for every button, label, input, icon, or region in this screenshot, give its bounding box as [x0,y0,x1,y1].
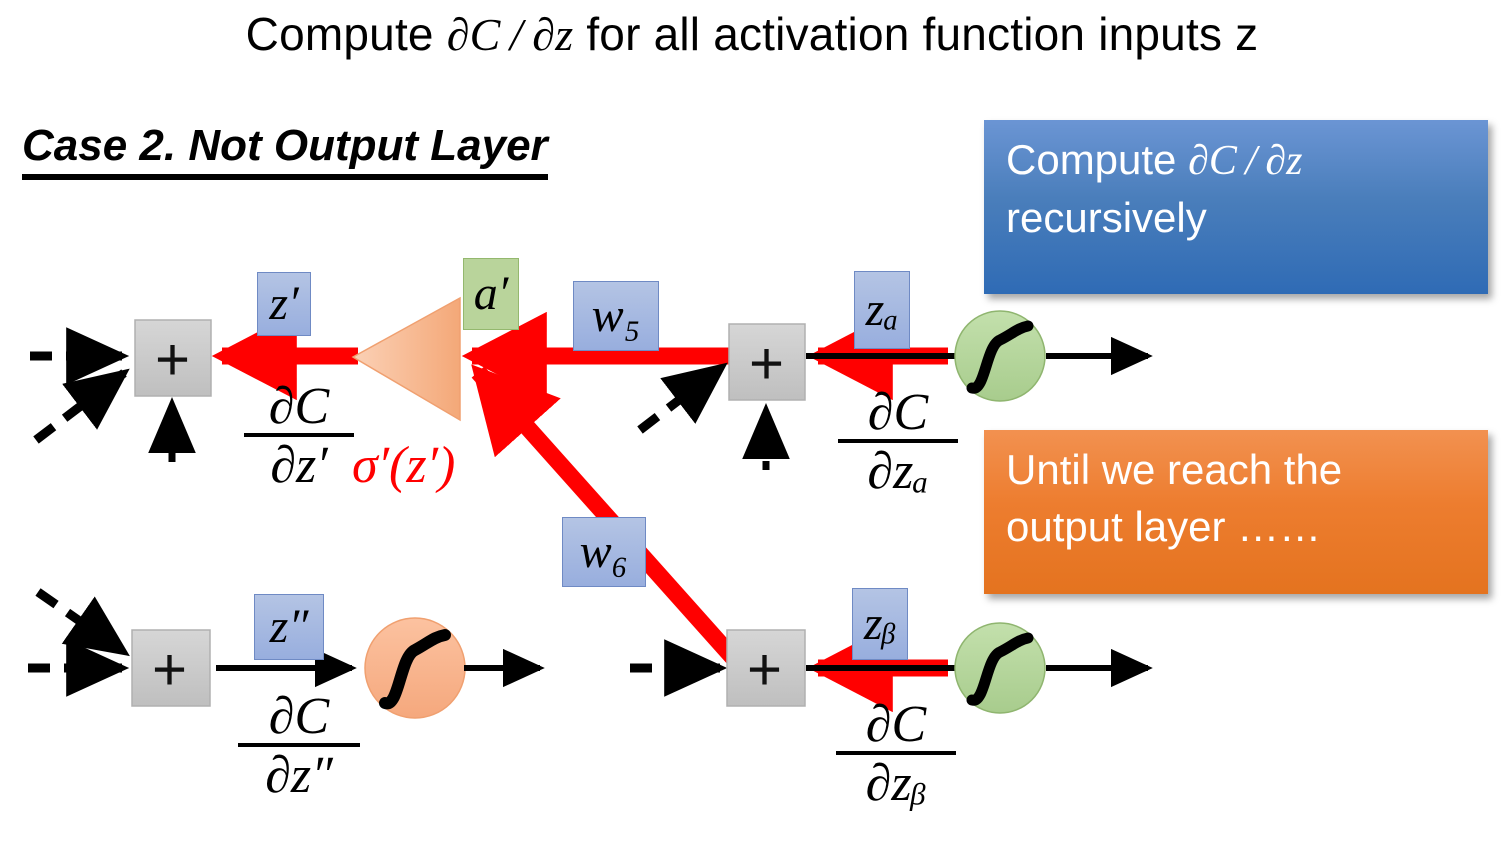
fraction-dC-dzprime-num: ∂C [244,380,354,433]
label-w6: w₆ [562,517,646,587]
sum-node-bottom-left-glyph: + [152,640,187,700]
label-za: zₐ [854,271,910,349]
label-a-prime: a′ [463,258,519,330]
label-z-double-prime: z″ [254,594,324,660]
sigma-prime-annotation: σ′(z′) [352,440,455,492]
fraction-dC-dzdoubleprime: ∂C ∂z″ [238,690,360,802]
fraction-dC-dzdoubleprime-num: ∂C [238,690,360,743]
sum-node-top-right-glyph: + [749,334,784,394]
fraction-dC-dzprime: ∂C ∂z′ [244,380,354,492]
fraction-dC-dzprime-den: ∂z′ [244,433,354,492]
label-zb: zᵦ [852,588,908,660]
fraction-dC-dzb-num: ∂C [836,698,956,751]
backprop-diagram [0,0,1504,861]
dashed-input-arrows-bottom-left [28,592,124,668]
sum-node-top-left-glyph: + [155,330,190,390]
sum-node-bottom-right-glyph: + [747,640,782,700]
fraction-dC-dza-num: ∂C [838,386,958,439]
activation-derivative-triangle [353,298,460,420]
label-w5: w₅ [573,281,659,351]
red-arrow-w6 [478,372,735,660]
fraction-dC-dza-den: ∂zₐ [838,439,958,498]
fraction-dC-dzb-den: ∂zᵦ [836,751,956,810]
fraction-dC-dza: ∂C ∂zₐ [838,386,958,498]
fraction-dC-dzb: ∂C ∂zᵦ [836,698,956,810]
fraction-dC-dzdoubleprime-den: ∂z″ [238,743,360,802]
label-z-prime: z′ [257,272,311,336]
